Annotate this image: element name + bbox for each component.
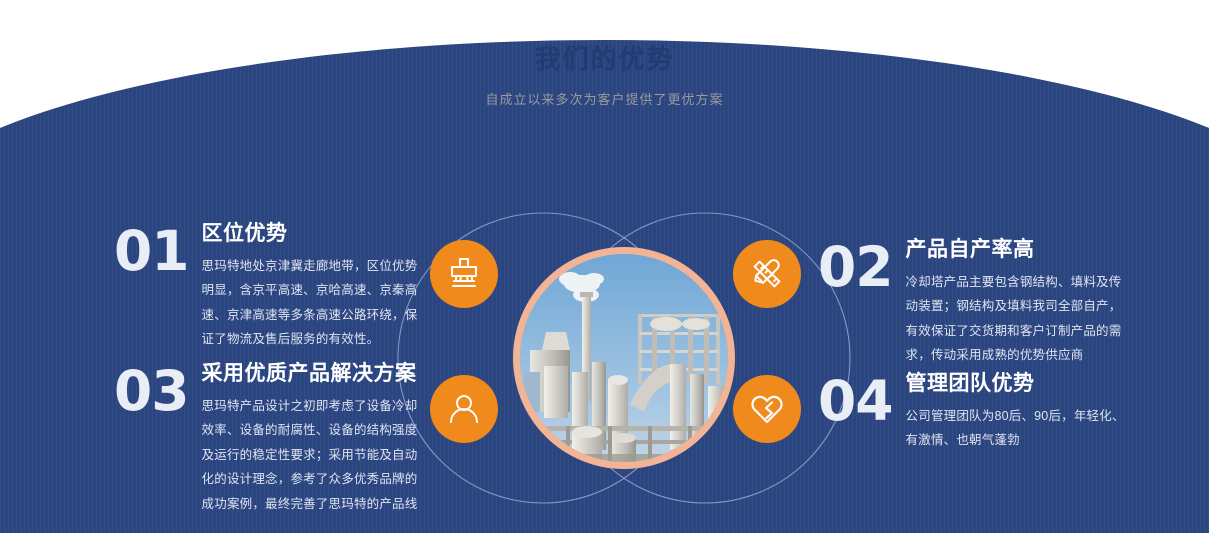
center-photo — [513, 247, 735, 469]
heart-handshake-icon-bubble[interactable] — [733, 375, 801, 443]
feature-body: 公司管理团队为80后、90后，年轻化、有激情、也朝气蓬勃 — [906, 404, 1130, 453]
feature-number: 04 — [818, 372, 893, 427]
feature-title: 产品自产率高 — [906, 238, 1130, 261]
brush-icon — [445, 255, 483, 293]
pencil-ruler-icon — [748, 255, 786, 293]
feature-item-02: 02 产品自产率高 冷却塔产品主要包含钢结构、填料及传动装置；钢结构及填料我司全… — [818, 238, 1130, 368]
feature-title: 区位优势 — [202, 222, 426, 245]
person-icon-bubble[interactable] — [430, 375, 498, 443]
section-header: 我们的优势 自成立以来多次为客户提供了更优方案 — [0, 44, 1209, 108]
pencil-ruler-icon-bubble[interactable] — [733, 240, 801, 308]
feature-body: 思玛特产品设计之初即考虑了设备冷却效率、设备的耐腐性、设备的结构强度及运行的稳定… — [202, 394, 426, 516]
feature-title: 管理团队优势 — [906, 372, 1130, 395]
feature-number: 01 — [114, 222, 189, 277]
advantages-section: 我们的优势 自成立以来多次为客户提供了更优方案 — [0, 0, 1209, 533]
feature-item-01: 01 区位优势 思玛特地处京津冀走廊地带，区位优势明显，含京平高速、京哈高速、京… — [114, 222, 426, 352]
feature-number: 02 — [818, 238, 893, 293]
feature-item-04: 04 管理团队优势 公司管理团队为80后、90后，年轻化、有激情、也朝气蓬勃 — [818, 372, 1130, 453]
feature-item-03: 03 采用优质产品解决方案 思玛特产品设计之初即考虑了设备冷却效率、设备的耐腐性… — [114, 362, 426, 516]
feature-title: 采用优质产品解决方案 — [202, 362, 426, 385]
page-subtitle: 自成立以来多次为客户提供了更优方案 — [0, 89, 1209, 108]
person-icon — [445, 390, 483, 428]
brush-icon-bubble[interactable] — [430, 240, 498, 308]
feature-number: 03 — [114, 362, 189, 417]
page-title: 我们的优势 — [0, 44, 1209, 75]
factory-photo-illustration — [520, 254, 728, 462]
feature-body: 冷却塔产品主要包含钢结构、填料及传动装置；钢结构及填料我司全部自产，有效保证了交… — [906, 270, 1130, 368]
feature-body: 思玛特地处京津冀走廊地带，区位优势明显，含京平高速、京哈高速、京秦高速、京津高速… — [202, 254, 426, 352]
heart-handshake-icon — [748, 390, 786, 428]
